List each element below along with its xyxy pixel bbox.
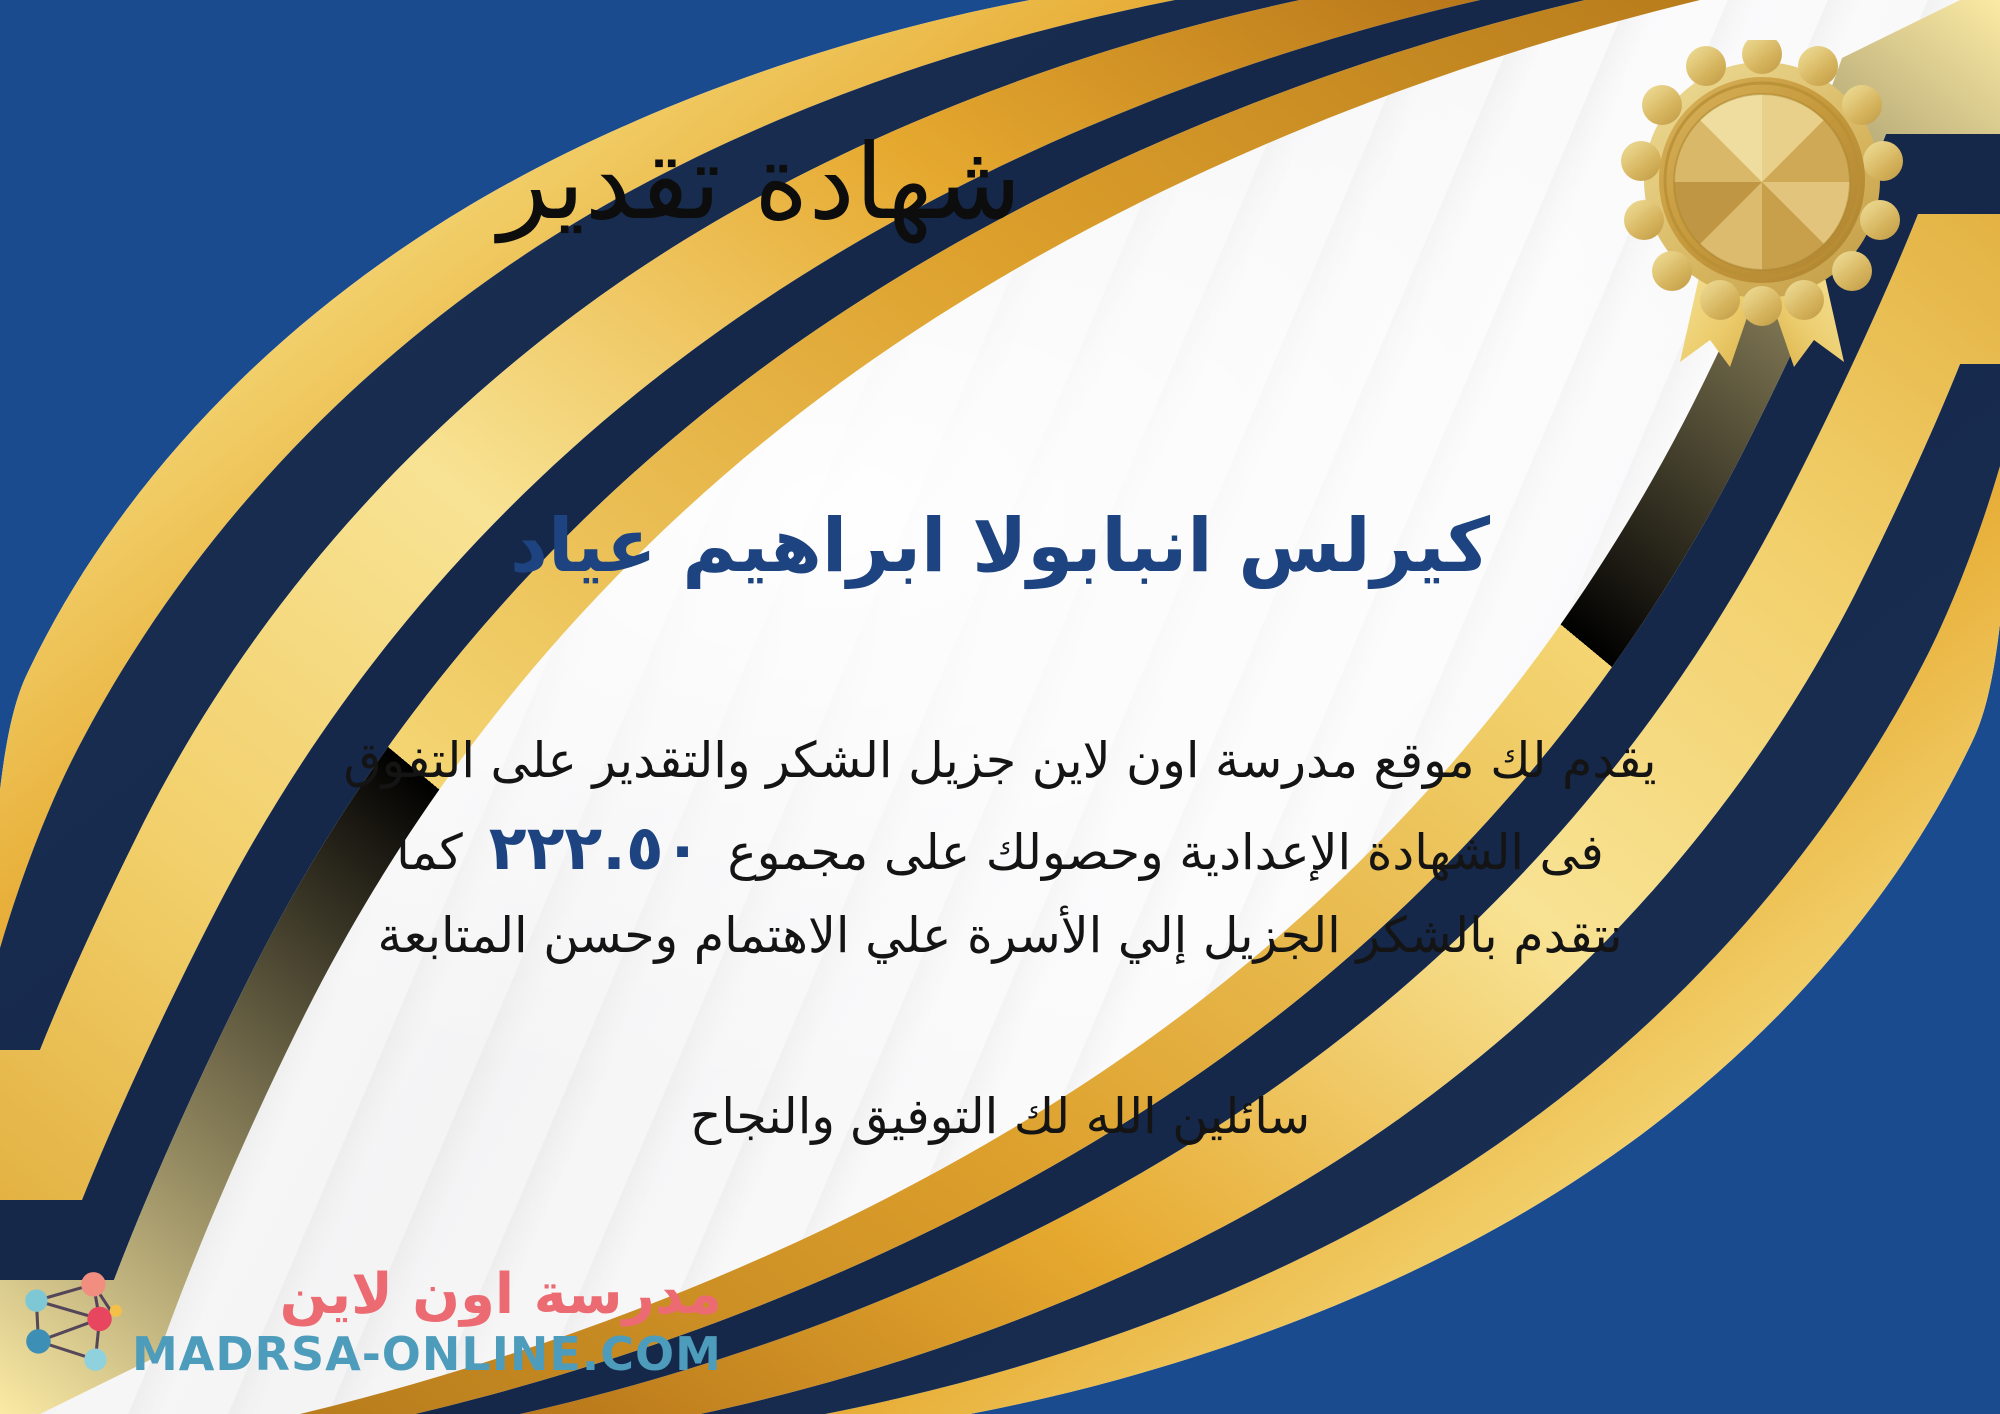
brand-text-group: مدرسة اون لاين MADRSA-ONLINE.COM — [132, 1267, 722, 1377]
body-line-2: فى الشهادة الإعدادية وحصولك على مجموع٢٢٢… — [40, 799, 1960, 897]
body-line-2-suffix: كما — [396, 824, 463, 881]
body-line-3: نتقدم بالشكر الجزيل إلي الأسرة علي الاهت… — [40, 897, 1960, 974]
node-lightteal-bottom — [84, 1348, 106, 1370]
brand-arabic-name: مدرسة اون لاين — [280, 1267, 722, 1323]
brand-website: MADRSA-ONLINE.COM — [132, 1331, 722, 1377]
certificate-title: شهادة تقدير — [0, 128, 1520, 237]
node-coral-top — [81, 1272, 105, 1296]
brand-logo[interactable]: مدرسة اون لاين MADRSA-ONLINE.COM — [14, 1266, 722, 1378]
node-yellow-edge — [110, 1305, 122, 1317]
certificate-body: يقدم لك موقع مدرسة اون لاين جزيل الشكر و… — [40, 722, 1960, 975]
network-nodes-icon — [14, 1266, 126, 1378]
score-value: ٢٢٢.٥٠ — [463, 811, 728, 884]
node-red-right — [87, 1307, 111, 1331]
node-blue-lower-left — [26, 1329, 50, 1353]
certificate-canvas: شهادة تقدير كيرلس انبابولا ابراهيم عياد … — [0, 0, 2000, 1414]
body-line-1: يقدم لك موقع مدرسة اون لاين جزيل الشكر و… — [40, 722, 1960, 799]
recipient-name: كيرلس انبابولا ابراهيم عياد — [0, 506, 2000, 587]
body-line-2-prefix: فى الشهادة الإعدادية وحصولك على مجموع — [728, 824, 1604, 881]
certificate-content: شهادة تقدير كيرلس انبابولا ابراهيم عياد … — [0, 0, 2000, 1414]
node-teal-left — [25, 1289, 47, 1311]
closing-wish: سائلين الله لك التوفيق والنجاح — [40, 1083, 1960, 1152]
